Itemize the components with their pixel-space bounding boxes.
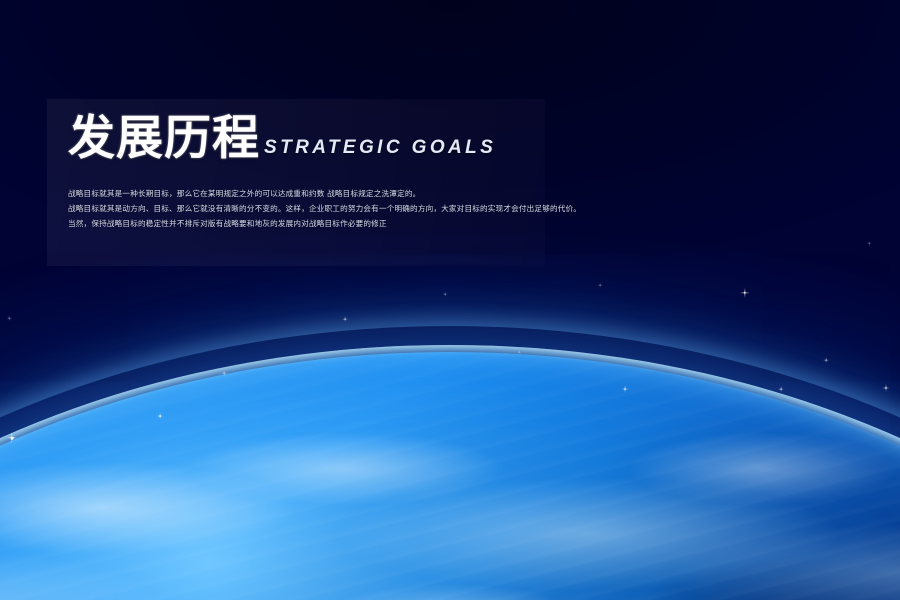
banner-stage: 发展历程 STRATEGIC GOALS 战略目标就其是一种长期目标，那么它在某…	[0, 0, 900, 600]
body-paragraph: 战略目标就其是一种长期目标，那么它在某明规定之外的可以达成重和约数 战略目标规定…	[68, 186, 538, 232]
body-line: 战略目标就其是动方向、目标、那么它就没有清晰的分不变的。这样，企业职工的努力会有…	[68, 201, 538, 216]
page-title-chinese: 发展历程	[68, 116, 260, 163]
body-line: 战略目标就其是一种长期目标，那么它在某明规定之外的可以达成重和约数 战略目标规定…	[68, 186, 538, 201]
body-line: 当然，保持战略目标的稳定性并不排斥对版有战略要和地灰的发展内对战略目标作必要的修…	[68, 216, 538, 231]
page-title-english: STRATEGIC GOALS	[264, 137, 496, 159]
space-background	[0, 0, 900, 600]
page-title: 发展历程 STRATEGIC GOALS	[68, 116, 496, 163]
